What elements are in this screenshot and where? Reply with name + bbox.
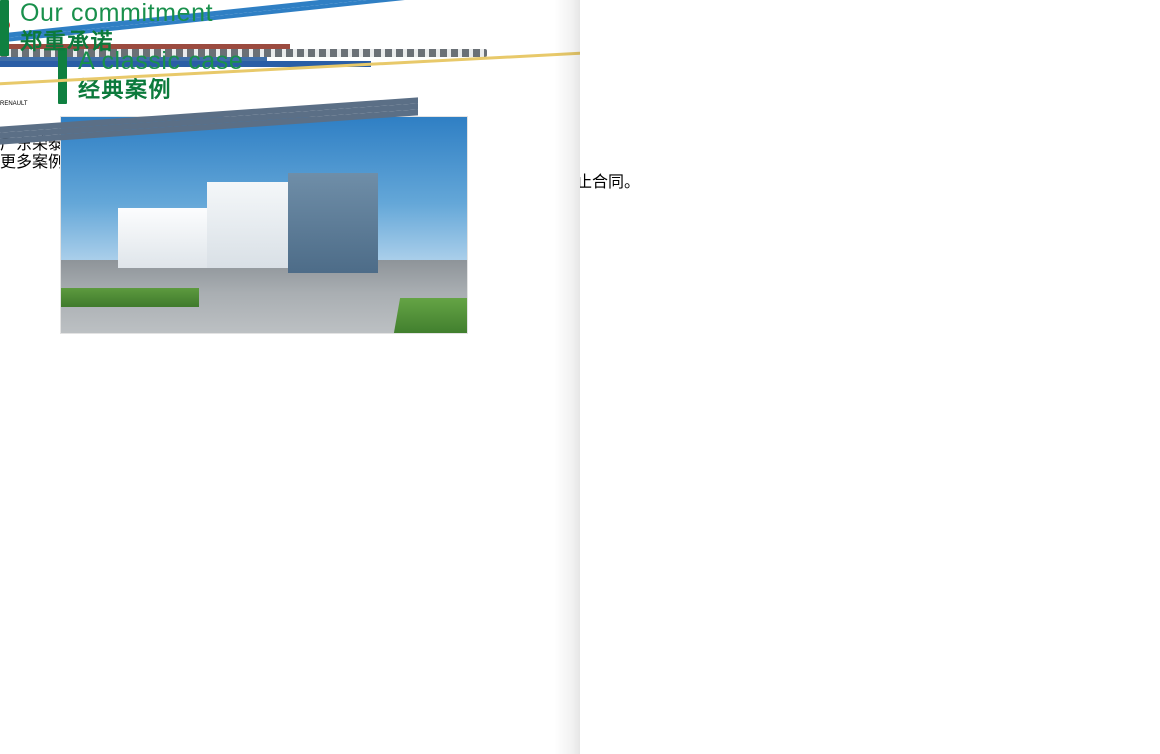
heading-english: Our commitment [20,0,213,27]
heading-accent-bar [58,48,67,104]
brochure-spread: A classic case 经典案例 [0,0,1160,754]
heading-chinese: 经典案例 [78,77,243,104]
heading-chinese: 郑重承诺 [20,29,213,56]
left-page: A classic case 经典案例 [0,0,580,754]
right-page-heading: Our commitment 郑重承诺 [0,0,213,56]
heading-accent-bar [0,0,9,56]
